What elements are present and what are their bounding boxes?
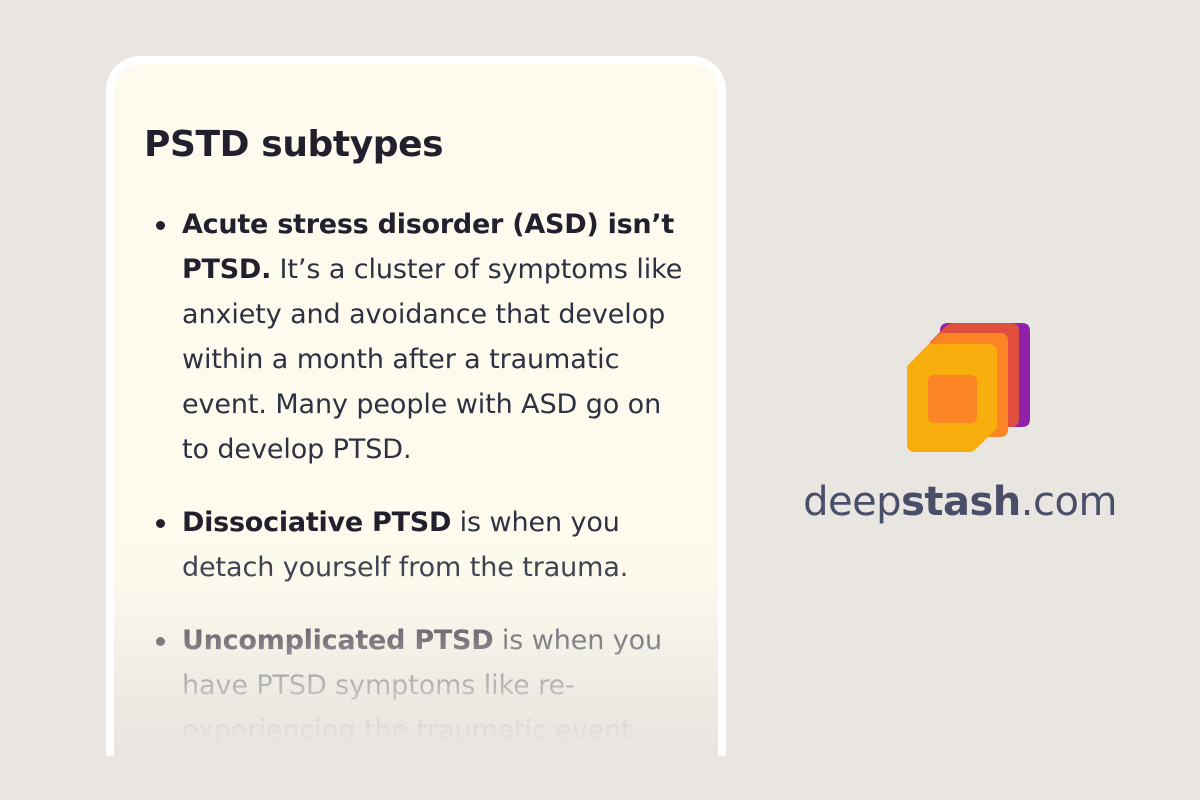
list-item-lead: Uncomplicated PTSD — [182, 625, 493, 656]
page-title: PSTD subtypes — [144, 126, 688, 164]
wordmark-prefix: deep — [803, 479, 901, 525]
card-content: PSTD subtypes Acute stress disorder (ASD… — [114, 64, 718, 753]
bullet-dot-icon — [156, 221, 165, 230]
brand-block: deepstash.com — [760, 300, 1160, 560]
card-surface: PSTD subtypes Acute stress disorder (ASD… — [114, 64, 718, 756]
list-item-lead: Dissociative PTSD — [182, 507, 451, 538]
list-item: Acute stress disorder (ASD) isn’t PTSD. … — [144, 202, 688, 472]
list-item-body: It’s a cluster of symptoms like anxiety … — [182, 254, 682, 465]
wordmark-emphasis: stash — [901, 479, 1021, 525]
deepstash-logo-icon — [896, 318, 1032, 462]
bullet-dot-icon — [156, 519, 165, 528]
bullet-dot-icon — [156, 637, 165, 646]
stash-card[interactable]: PSTD subtypes Acute stress disorder (ASD… — [106, 56, 726, 756]
brand-wordmark[interactable]: deepstash.com — [760, 482, 1160, 522]
card-border: PSTD subtypes Acute stress disorder (ASD… — [106, 56, 726, 756]
screenshot-stage: PSTD subtypes Acute stress disorder (ASD… — [0, 0, 1200, 800]
list-item: Dissociative PTSD is when you detach you… — [144, 500, 688, 590]
list-item: Uncomplicated PTSD is when you have PTSD… — [144, 618, 688, 753]
subtype-list: Acute stress disorder (ASD) isn’t PTSD. … — [144, 202, 688, 753]
wordmark-suffix: .com — [1021, 479, 1117, 525]
